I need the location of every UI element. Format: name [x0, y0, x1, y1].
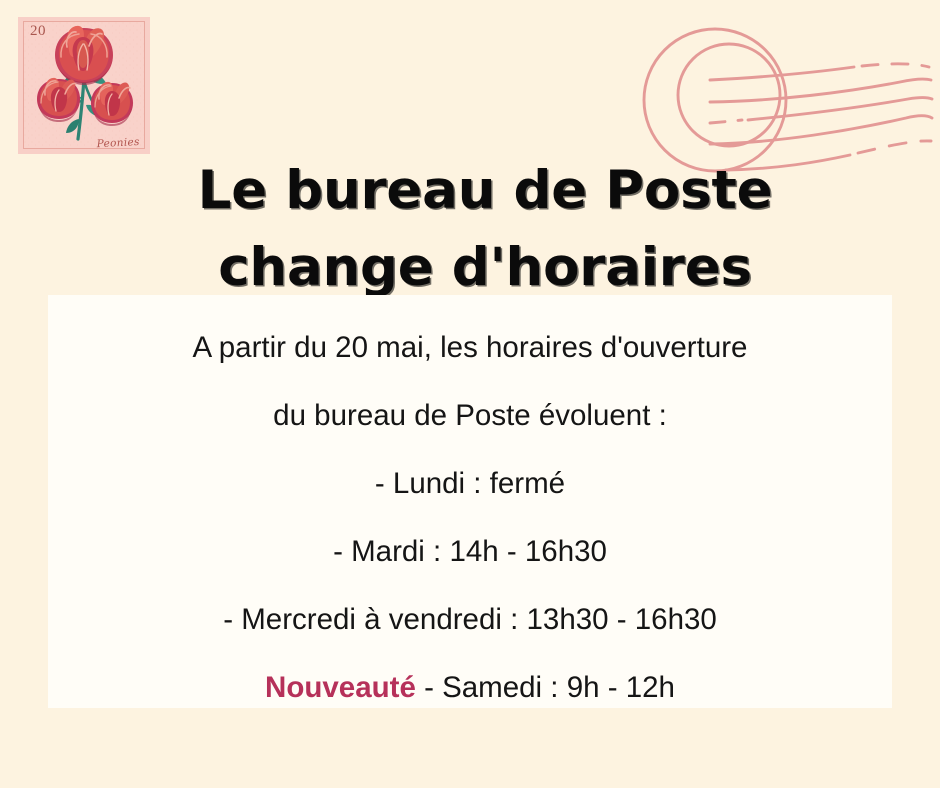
postmark-wave-3 — [748, 98, 932, 121]
stamp-caption: Peonies — [96, 136, 140, 150]
stamp-inner-frame — [23, 21, 145, 149]
announcement-text-block: A partir du 20 mai, les horaires d'ouver… — [48, 314, 892, 722]
schedule-row-wednesday-friday: - Mercredi à vendredi : 13h30 - 16h30 — [48, 586, 892, 654]
postmark-wave-1-dashed — [862, 64, 929, 67]
schedule-row-monday: - Lundi : fermé — [48, 450, 892, 518]
schedule-row-tuesday: - Mardi : 14h - 16h30 — [48, 518, 892, 586]
new-badge-label: Nouveauté — [265, 671, 416, 704]
announcement-intro-line-2: du bureau de Poste évoluent : — [48, 382, 892, 450]
poster-canvas: 20 Peonies Le bureau de Poste change — [0, 0, 940, 788]
postmark-wave-2 — [710, 79, 931, 102]
postmark-wave-4 — [710, 116, 932, 144]
postmark-outer-circle — [644, 29, 786, 171]
announcement-intro-line-1: A partir du 20 mai, les horaires d'ouver… — [48, 314, 892, 382]
stamp-denomination: 20 — [30, 23, 46, 40]
postmark-inner-circle — [678, 44, 780, 146]
schedule-text: - Mercredi à vendredi : 13h30 - 16h30 — [223, 603, 717, 636]
announcement-card: A partir du 20 mai, les horaires d'ouver… — [48, 295, 892, 708]
schedule-text: - Samedi : 9h - 12h — [416, 671, 675, 704]
postage-stamp: 20 Peonies — [8, 7, 160, 164]
page-title: Le bureau de Poste change d'horaires — [70, 152, 900, 307]
postmark-wave-1-solid — [710, 67, 854, 80]
schedule-row-saturday: Nouveauté - Samedi : 9h - 12h — [48, 654, 892, 722]
page-title-line-1: Le bureau de Poste — [70, 152, 900, 229]
schedule-text: - Lundi : fermé — [375, 467, 565, 500]
postmark-wave-3-dashed — [710, 120, 742, 123]
schedule-text: - Mardi : 14h - 16h30 — [333, 535, 607, 568]
